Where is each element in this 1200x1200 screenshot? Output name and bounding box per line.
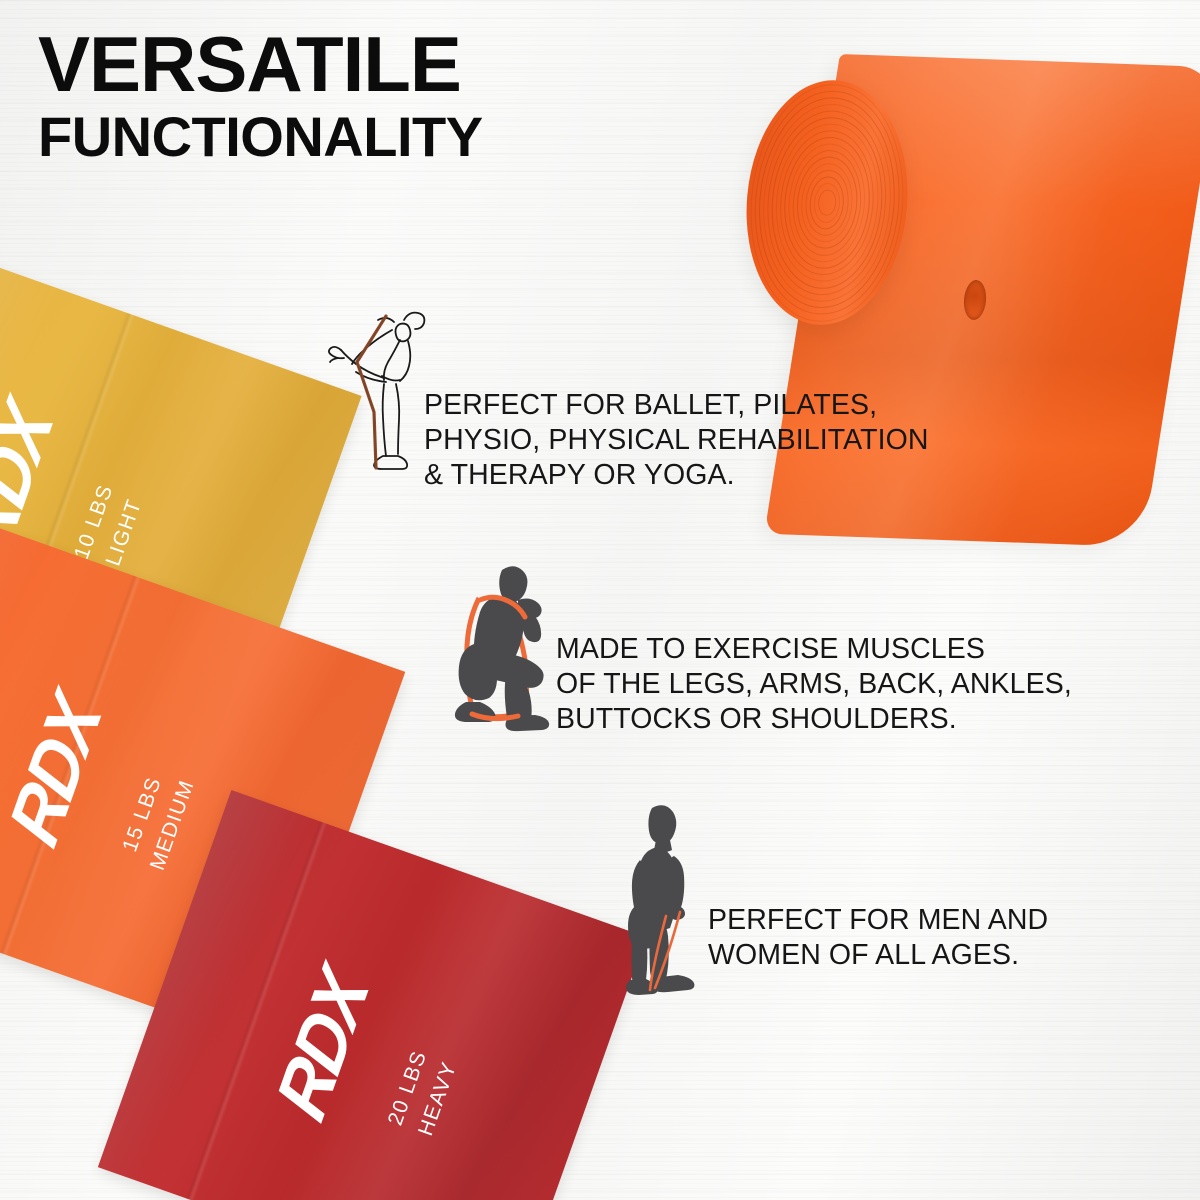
feature-text-3: PERFECT FOR MEN AND WOMEN OF ALL AGES. [708, 903, 1048, 973]
page-title: VERSATILE FUNCTIONALITY [38, 27, 483, 165]
headline-line-1: VERSATILE [38, 27, 483, 102]
headline-line-2: FUNCTIONALITY [38, 108, 483, 165]
feature-1-line-3: & THERAPY OR YOGA. [424, 458, 929, 493]
band-medium-brand: RDX [0, 676, 119, 858]
band-heavy-brand: RDX [261, 950, 386, 1132]
feature-1-line-1: PERFECT FOR BALLET, PILATES, [424, 388, 929, 423]
feature-1-line-2: PHYSIO, PHYSICAL REHABILITATION [424, 423, 929, 458]
feature-2-line-3: BUTTOCKS OR SHOULDERS. [556, 702, 1072, 737]
product-feature-banner: RDX 10 LBS LIGHT RDX 15 LBS MEDIUM [0, 0, 1200, 1200]
feature-text-1: PERFECT FOR BALLET, PILATES, PHYSIO, PHY… [424, 388, 929, 492]
feature-text-2: MADE TO EXERCISE MUSCLES OF THE LEGS, AR… [556, 632, 1072, 736]
yoga-dancer-pose-icon [316, 300, 436, 478]
feature-2-line-1: MADE TO EXERCISE MUSCLES [556, 632, 1072, 667]
feature-3-line-1: PERFECT FOR MEN AND [708, 903, 1048, 938]
roll-spiral-rings [737, 73, 918, 331]
feature-3-line-2: WOMEN OF ALL AGES. [708, 938, 1048, 973]
feature-2-line-2: OF THE LEGS, ARMS, BACK, ANKLES, [556, 667, 1072, 702]
